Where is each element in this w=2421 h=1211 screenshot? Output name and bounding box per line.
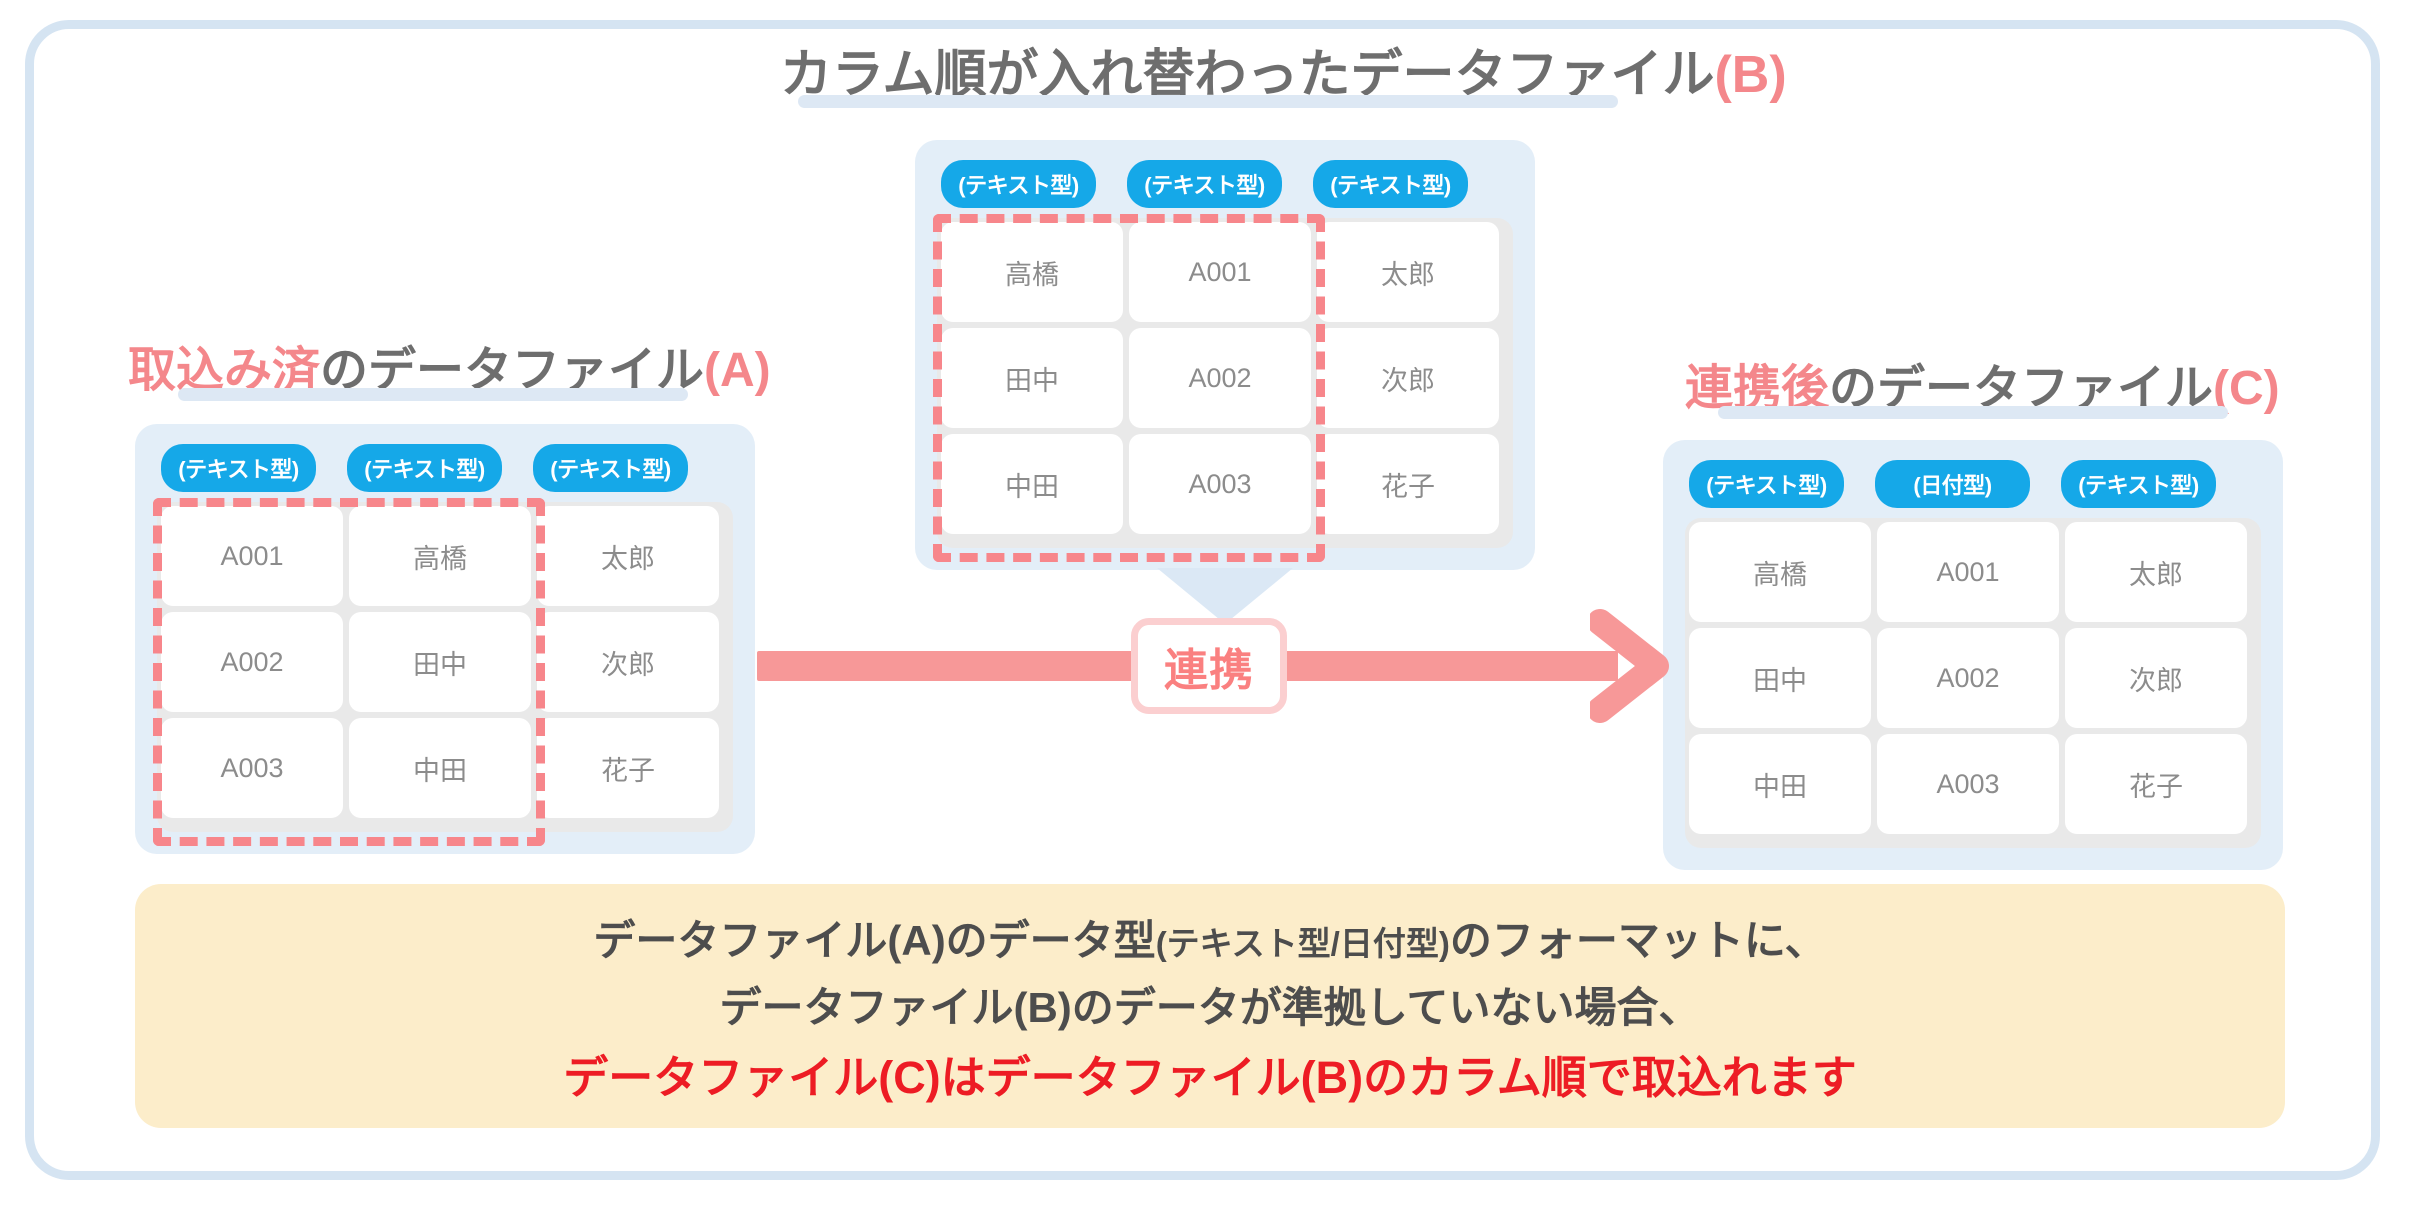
panel-a-header-1: (テキスト型) bbox=[347, 444, 502, 492]
panel-c-cell-1-1: A002 bbox=[1877, 628, 2059, 728]
caption-line-1: データファイル(A)のデータ型(テキスト型/日付型)のフォーマットに、 bbox=[593, 907, 1826, 968]
panel-c-header-2: (テキスト型) bbox=[2061, 460, 2216, 508]
caption-line-2: データファイル(B)のデータが準拠していない場合、 bbox=[719, 974, 1700, 1035]
panel-c-header-1: (日付型) bbox=[1875, 460, 2030, 508]
panel-c-header-0: (テキスト型) bbox=[1689, 460, 1844, 508]
panel-b-header-2: (テキスト型) bbox=[1313, 160, 1468, 208]
panel-b-cell-0-2: 太郎 bbox=[1317, 222, 1499, 322]
panel-a-inner: (テキスト型) (テキスト型) (テキスト型) A001 高橋 太郎 A002 … bbox=[135, 424, 755, 854]
panel-b-header-1: (テキスト型) bbox=[1127, 160, 1282, 208]
panel-a-cell-0-2: 太郎 bbox=[537, 506, 719, 606]
panel-b-cell-1-0: 田中 bbox=[941, 328, 1123, 428]
panel-b-cell-2-0: 中田 bbox=[941, 434, 1123, 534]
panel-a-cell-1-0: A002 bbox=[161, 612, 343, 712]
panel-c-cell-2-0: 中田 bbox=[1689, 734, 1871, 834]
panel-a-cell-0-1: 高橋 bbox=[349, 506, 531, 606]
panel-b-inner: (テキスト型) (テキスト型) (テキスト型) 高橋 A001 太郎 田中 A0… bbox=[915, 140, 1535, 570]
panel-a-header-0: (テキスト型) bbox=[161, 444, 316, 492]
panel-a-title-tag: (A) bbox=[704, 344, 771, 397]
panel-a-cell-2-2: 花子 bbox=[537, 718, 719, 818]
panel-c-title-underline bbox=[1718, 406, 2228, 419]
flow-arrow-shaft-right bbox=[1258, 651, 1618, 681]
panel-b-cell-0-1: A001 bbox=[1129, 222, 1311, 322]
panel-c-cell-0-1: A001 bbox=[1877, 522, 2059, 622]
panel-a-title-underline bbox=[178, 388, 688, 401]
panel-c-inner: (テキスト型) (日付型) (テキスト型) 高橋 A001 太郎 田中 A002… bbox=[1663, 440, 2283, 870]
panel-c-cell-2-1: A003 bbox=[1877, 734, 2059, 834]
panel-b-title-tag: (B) bbox=[1714, 46, 1786, 104]
panel-b-header-0: (テキスト型) bbox=[941, 160, 1096, 208]
flow-label-box: 連携 bbox=[1131, 618, 1287, 714]
panel-c: (テキスト型) (日付型) (テキスト型) 高橋 A001 太郎 田中 A002… bbox=[1663, 440, 2283, 870]
panel-b-cell-1-2: 次郎 bbox=[1317, 328, 1499, 428]
panel-a-cell-1-2: 次郎 bbox=[537, 612, 719, 712]
caption-line-1-part-a: データファイル(A)のデータ型 bbox=[593, 917, 1155, 964]
panel-c-cell-1-0: 田中 bbox=[1689, 628, 1871, 728]
panel-c-cell-0-2: 太郎 bbox=[2065, 522, 2247, 622]
flow-arrow-head-icon bbox=[1590, 608, 1680, 724]
panel-a-cell-2-0: A003 bbox=[161, 718, 343, 818]
panel-b-cell-1-1: A002 bbox=[1129, 328, 1311, 428]
panel-b-down-arrow-icon bbox=[1157, 568, 1293, 624]
panel-b-cell-2-2: 花子 bbox=[1317, 434, 1499, 534]
panel-a-cell-0-0: A001 bbox=[161, 506, 343, 606]
caption-line-3: データファイル(C)はデータファイル(B)のカラム順で取込れます bbox=[563, 1041, 1857, 1106]
caption-line-1-part-c: のフォーマットに、 bbox=[1450, 917, 1827, 964]
panel-b: (テキスト型) (テキスト型) (テキスト型) 高橋 A001 太郎 田中 A0… bbox=[915, 140, 1535, 570]
panel-c-cell-0-0: 高橋 bbox=[1689, 522, 1871, 622]
panel-a-header-2: (テキスト型) bbox=[533, 444, 688, 492]
panel-b-cell-0-0: 高橋 bbox=[941, 222, 1123, 322]
caption-line-1-part-b: (テキスト型/日付型) bbox=[1156, 925, 1450, 962]
panel-a-cell-2-1: 中田 bbox=[349, 718, 531, 818]
flow-arrow-shaft-left bbox=[757, 651, 1161, 681]
panel-b-title-underline bbox=[798, 95, 1618, 108]
caption-box: データファイル(A)のデータ型(テキスト型/日付型)のフォーマットに、 データフ… bbox=[135, 884, 2285, 1128]
panel-c-cell-1-2: 次郎 bbox=[2065, 628, 2247, 728]
panel-a: (テキスト型) (テキスト型) (テキスト型) A001 高橋 太郎 A002 … bbox=[135, 424, 755, 854]
panel-c-cell-2-2: 花子 bbox=[2065, 734, 2247, 834]
panel-b-cell-2-1: A003 bbox=[1129, 434, 1311, 534]
panel-a-cell-1-1: 田中 bbox=[349, 612, 531, 712]
